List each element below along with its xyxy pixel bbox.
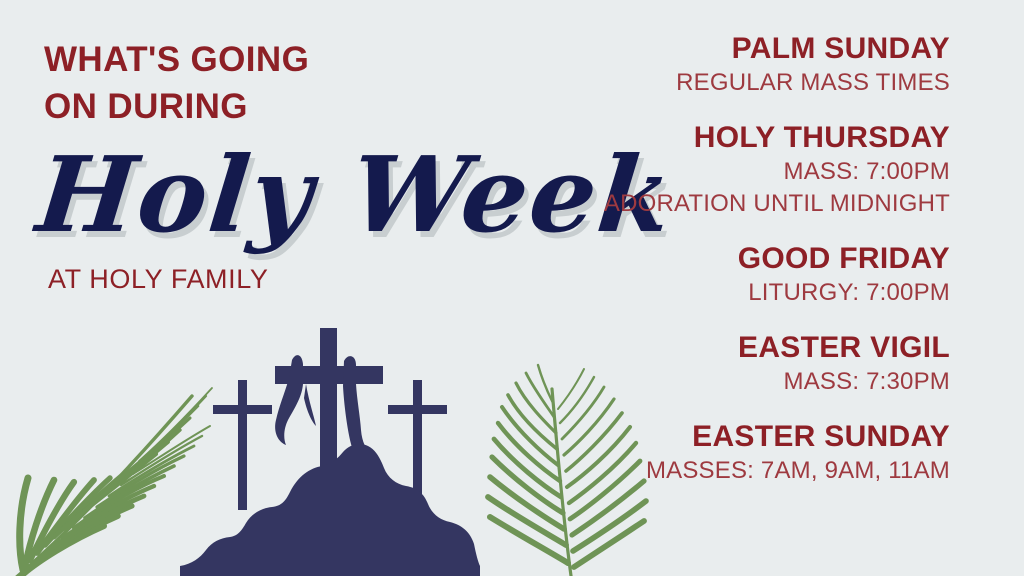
- schedule-item-palm-sunday: PALM SUNDAY REGULAR MASS TIMES: [530, 30, 950, 99]
- schedule-item-easter-sunday: EASTER SUNDAY MASSES: 7AM, 9AM, 11AM: [530, 418, 950, 487]
- day-title: HOLY THURSDAY: [530, 119, 950, 156]
- headline-line-1: WHAT'S GOING: [44, 36, 604, 83]
- day-title: GOOD FRIDAY: [530, 240, 950, 277]
- day-detail: REGULAR MASS TIMES: [530, 67, 950, 99]
- day-detail: MASSES: 7AM, 9AM, 11AM: [530, 455, 950, 487]
- headline-block: WHAT'S GOING ON DURING Holy Week AT HOLY…: [44, 36, 604, 295]
- day-detail: LITURGY: 7:00PM: [530, 277, 950, 309]
- schedule-item-holy-thursday: HOLY THURSDAY MASS: 7:00PM ADORATION UNT…: [530, 119, 950, 220]
- schedule-item-easter-vigil: EASTER VIGIL MASS: 7:30PM: [530, 329, 950, 398]
- parish-name: AT HOLY FAMILY: [48, 264, 604, 295]
- day-title: EASTER VIGIL: [530, 329, 950, 366]
- script-title-holy-week: Holy Week: [32, 136, 610, 254]
- day-detail: MASS: 7:30PM: [530, 366, 950, 398]
- schedule-item-good-friday: GOOD FRIDAY LITURGY: 7:00PM: [530, 240, 950, 309]
- headline-line-2: ON DURING: [44, 83, 604, 130]
- holy-week-poster: WHAT'S GOING ON DURING Holy Week AT HOLY…: [0, 0, 1024, 576]
- three-crosses-on-hill-icon: [180, 328, 480, 576]
- day-detail: MASS: 7:00PM: [530, 156, 950, 188]
- day-title: EASTER SUNDAY: [530, 418, 950, 455]
- day-detail: ADORATION UNTIL MIDNIGHT: [530, 188, 950, 220]
- day-title: PALM SUNDAY: [530, 30, 950, 67]
- schedule-list: PALM SUNDAY REGULAR MASS TIMES HOLY THUR…: [530, 30, 950, 487]
- palm-frond-left-icon: [0, 380, 222, 576]
